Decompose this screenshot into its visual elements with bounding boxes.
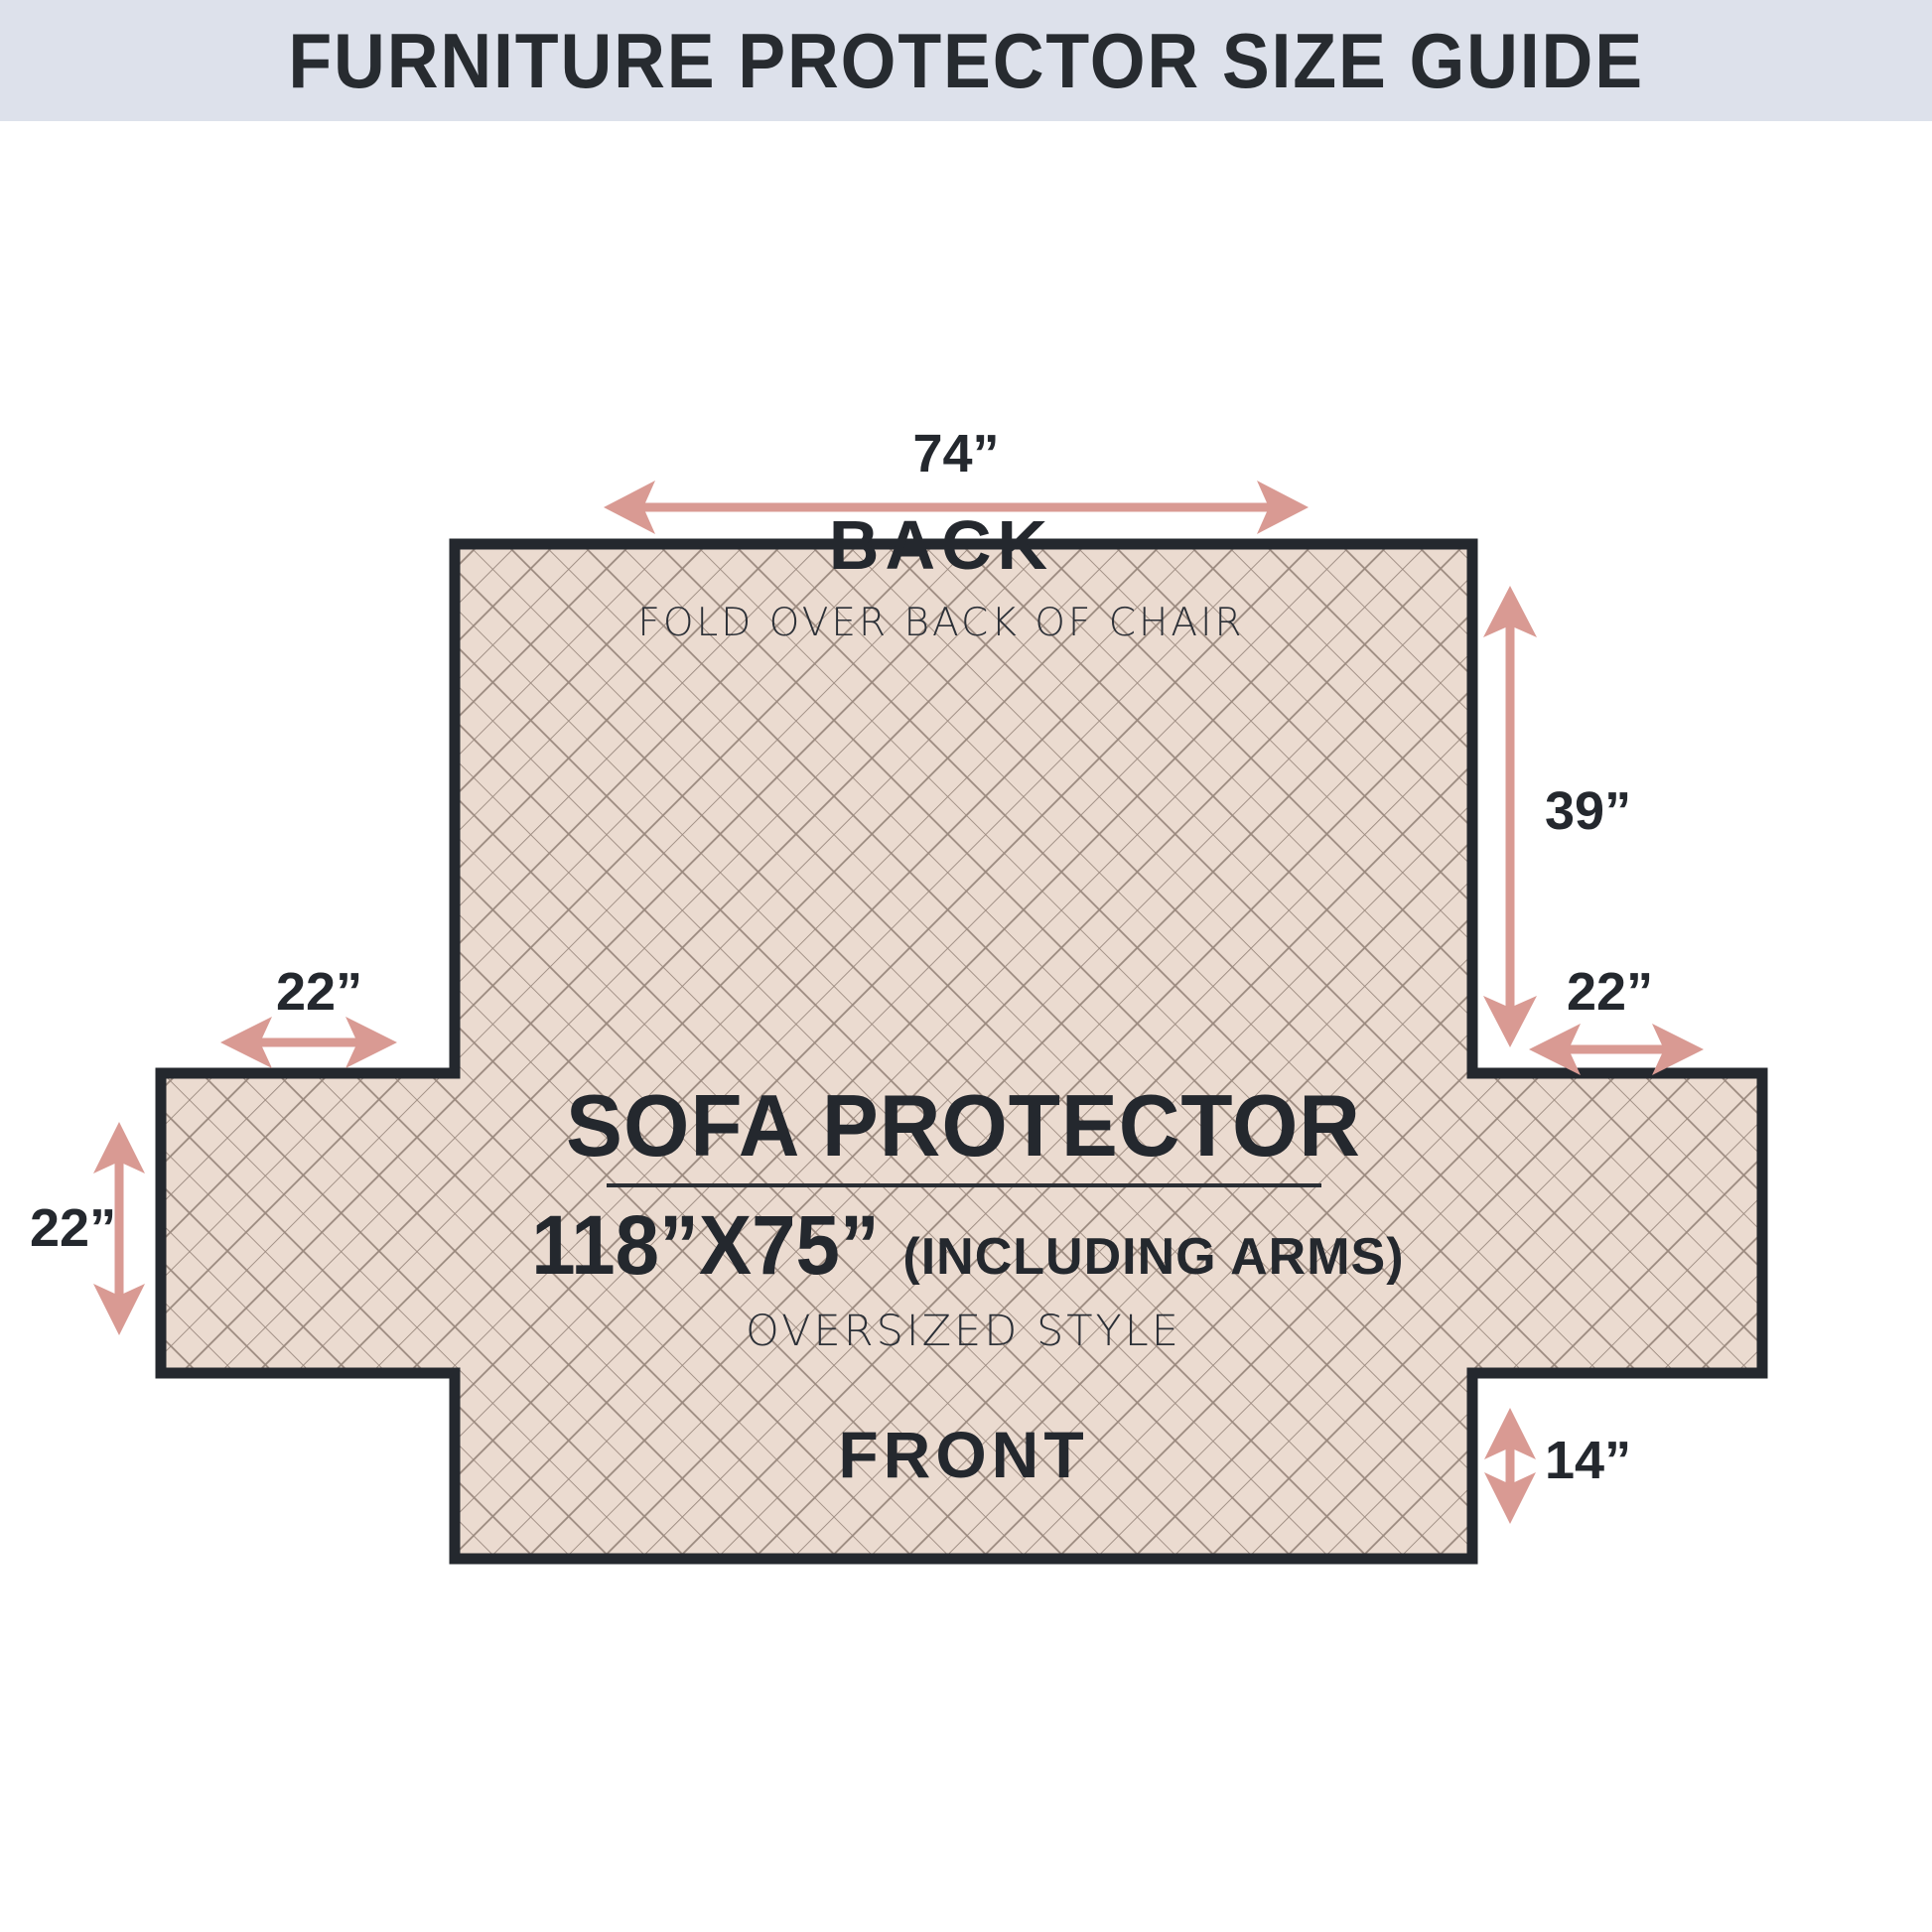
protector-outline <box>161 544 1762 1559</box>
size-guide-page: FURNITURE PROTECTOR SIZE GUIDE <box>0 0 1932 1932</box>
dimension-arrow-14 <box>1484 1408 1536 1524</box>
back-panel-subheading: FOLD OVER BACK OF CHAIR <box>0 604 1907 642</box>
dimension-arrow-39 <box>1483 586 1537 1047</box>
center-panel-text-block: SOFA PROTECTOR 118”X75” (INCLUDING ARMS)… <box>455 1082 1472 1356</box>
overall-dimensions: 118”X75” <box>532 1203 881 1287</box>
dimension-arrow-22-right-width <box>1529 1024 1704 1075</box>
back-panel-heading: BACK <box>0 510 1907 580</box>
product-title: SOFA PROTECTOR <box>470 1082 1456 1170</box>
overall-dimensions-row: 118”X75” (INCLUDING ARMS) <box>455 1203 1472 1287</box>
front-panel-heading: FRONT <box>455 1422 1472 1487</box>
measurement-label-left-arm-width: 22” <box>276 965 362 1019</box>
measurement-label-front-skirt-height: 14” <box>1545 1434 1631 1487</box>
measurement-label-arm-height: 22” <box>30 1201 116 1255</box>
overall-dimensions-note: (INCLUDING ARMS) <box>902 1231 1404 1283</box>
style-label: OVERSIZED STYLE <box>455 1307 1472 1356</box>
measurement-label-right-arm-width: 22” <box>1567 965 1653 1019</box>
dimension-arrow-22-left-width <box>220 1017 397 1068</box>
measurement-label-back-width: 74” <box>0 427 1922 481</box>
measurement-label-back-height: 39” <box>1545 784 1631 838</box>
title-divider <box>607 1183 1321 1187</box>
